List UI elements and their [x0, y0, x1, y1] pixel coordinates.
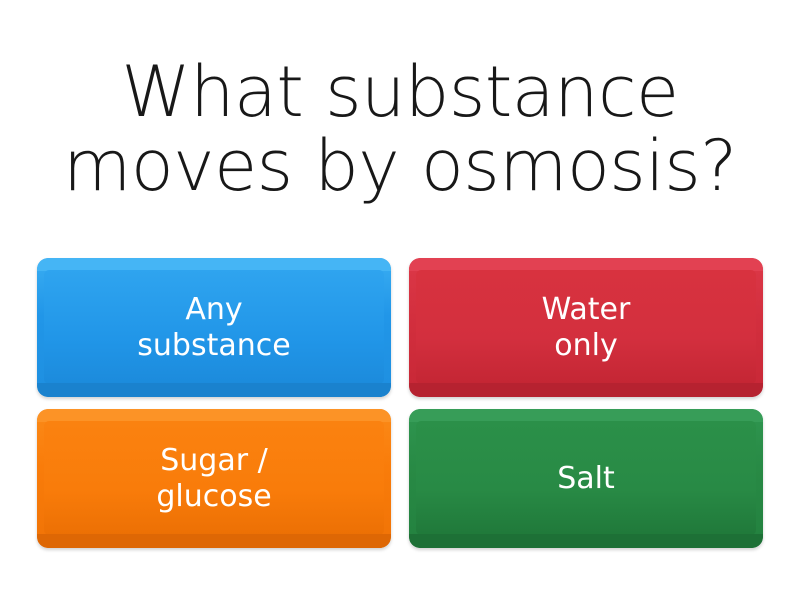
quiz-screen: What substance moves by osmosis? Any sub… — [0, 0, 800, 600]
answer-options-grid: Any substance Water only Sugar / glucose… — [0, 258, 800, 600]
answer-option-3[interactable]: Sugar / glucose — [37, 409, 391, 548]
answer-option-1-bottom-bevel — [37, 383, 391, 397]
answer-option-2-bottom-bevel — [409, 383, 763, 397]
question-area: What substance moves by osmosis? — [0, 0, 800, 258]
answer-option-4[interactable]: Salt — [409, 409, 763, 548]
answer-option-3-bottom-bevel — [37, 534, 391, 548]
answer-option-3-label: Sugar / glucose — [146, 443, 281, 513]
answer-option-2-label: Water only — [532, 292, 641, 362]
answer-option-1[interactable]: Any substance — [37, 258, 391, 397]
question-text: What substance moves by osmosis? — [63, 55, 737, 203]
answer-option-1-label: Any substance — [127, 292, 300, 362]
answer-option-2[interactable]: Water only — [409, 258, 763, 397]
answer-option-4-label: Salt — [547, 461, 625, 496]
answer-option-4-bottom-bevel — [409, 534, 763, 548]
